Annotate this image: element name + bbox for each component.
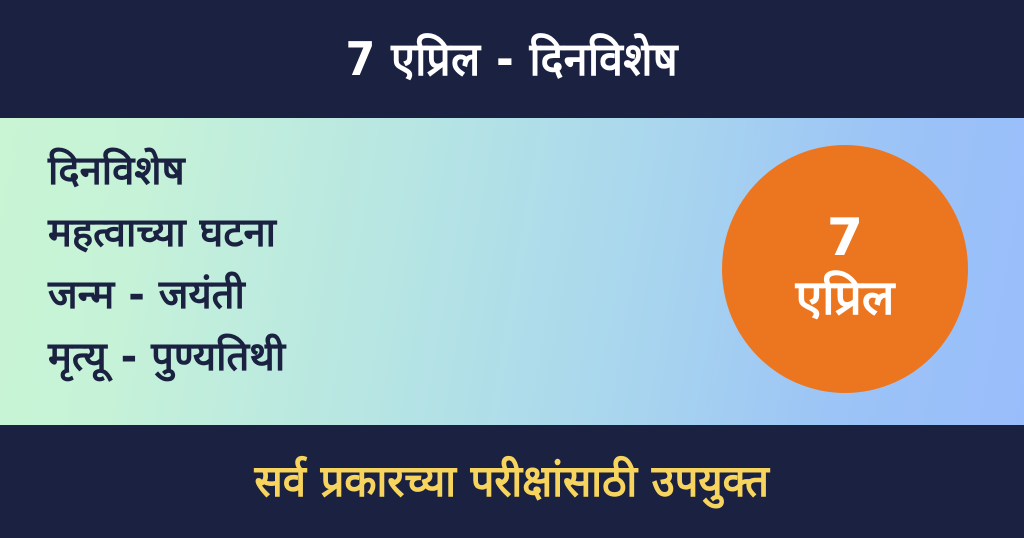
list-item: महत्वाच्या घटना <box>48 202 285 264</box>
list-item: जन्म - जयंती <box>48 264 285 326</box>
list-item: मृत्यू - पुण्यतिथी <box>48 326 285 388</box>
date-badge: 7 एप्रिल <box>722 145 968 393</box>
date-badge-day: 7 <box>827 211 863 265</box>
date-badge-month: एप्रिल <box>796 269 895 327</box>
header-band: 7 एप्रिल - दिनविशेष <box>0 0 1024 118</box>
page-title: 7 एप्रिल - दिनविशेष <box>346 36 679 82</box>
footer-band: सर्व प्रकारच्या परीक्षांसाठी उपयुक्त <box>0 425 1024 538</box>
topic-list: दिनविशेष महत्वाच्या घटना जन्म - जयंती मृ… <box>48 140 285 388</box>
footer-tagline: सर्व प्रकारच्या परीक्षांसाठी उपयुक्त <box>255 460 769 504</box>
dinvishesh-poster: 7 एप्रिल - दिनविशेष दिनविशेष महत्वाच्या … <box>0 0 1024 538</box>
list-item: दिनविशेष <box>48 140 285 202</box>
main-content-band: दिनविशेष महत्वाच्या घटना जन्म - जयंती मृ… <box>0 118 1024 425</box>
